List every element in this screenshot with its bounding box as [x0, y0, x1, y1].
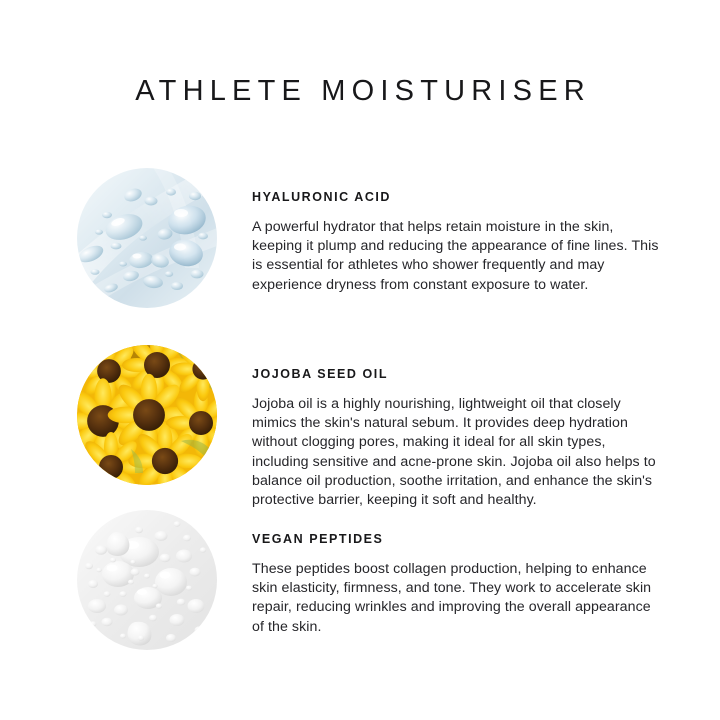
ingredient-description: A powerful hydrator that helps retain mo…: [252, 218, 664, 295]
ingredient-title: HYALURONIC ACID: [252, 190, 664, 205]
ingredient-list: HYALURONIC ACID A powerful hydrator that…: [0, 168, 720, 660]
ingredient-text-hyaluronic-acid: HYALURONIC ACID A powerful hydrator that…: [252, 168, 664, 295]
ingredient-row-vegan-peptides: VEGAN PEPTIDES These peptides boost coll…: [0, 510, 720, 660]
page-title: ATHLETE MOISTURISER: [0, 74, 720, 108]
water-droplets-image: [77, 168, 217, 308]
ingredient-row-jojoba-seed-oil: JOJOBA SEED OIL Jojoba oil is a highly n…: [0, 345, 720, 510]
ingredient-title: JOJOBA SEED OIL: [252, 367, 664, 382]
white-droplets-image: [77, 510, 217, 650]
ingredient-description: These peptides boost collagen production…: [252, 560, 664, 637]
ingredient-text-jojoba-seed-oil: JOJOBA SEED OIL Jojoba oil is a highly n…: [252, 345, 664, 510]
ingredient-description: Jojoba oil is a highly nourishing, light…: [252, 395, 664, 510]
ingredient-title: VEGAN PEPTIDES: [252, 532, 664, 547]
sunflowers-image: [77, 345, 217, 485]
ingredient-text-vegan-peptides: VEGAN PEPTIDES These peptides boost coll…: [252, 510, 664, 637]
ingredient-infographic-page: ATHLETE MOISTURISER: [0, 0, 720, 720]
ingredient-row-hyaluronic-acid: HYALURONIC ACID A powerful hydrator that…: [0, 168, 720, 345]
